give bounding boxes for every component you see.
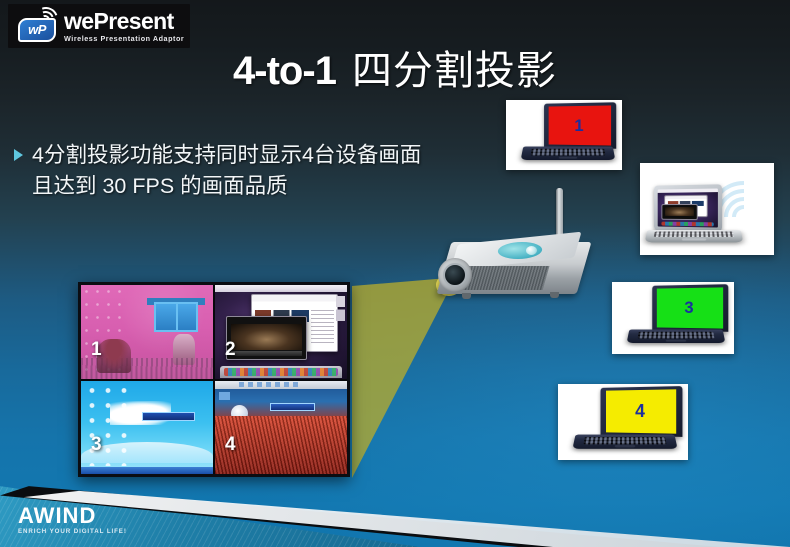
- device-card-4: 4: [558, 384, 688, 460]
- desktop-dialog-bar: [142, 412, 195, 420]
- projector-lens: [443, 263, 467, 287]
- projector-foot: [550, 292, 559, 298]
- laptop-trackpad: [559, 157, 578, 159]
- laptop-lid: 3: [652, 284, 728, 332]
- projector-foot: [462, 293, 471, 299]
- macbook-illustration: [640, 163, 774, 255]
- laptop-trackpad: [615, 445, 636, 447]
- laptop-screen: 1: [549, 106, 611, 146]
- projected-quadrant-3: 3: [81, 381, 213, 475]
- laptop-base: [521, 146, 616, 160]
- projector-grill: [459, 266, 550, 290]
- laptop-base: [627, 329, 726, 343]
- projected-quadrant-2: 2: [215, 285, 347, 379]
- projected-screen: 1 2: [78, 282, 350, 477]
- video-controls: [231, 351, 301, 356]
- laptop-lid: 1: [544, 102, 616, 148]
- projector-knob: [526, 246, 537, 255]
- laptop-keyboard: [637, 332, 715, 339]
- macos-menubar: [215, 285, 347, 292]
- laptop-illustration-4: 4: [558, 384, 688, 460]
- macbook-media-window: [661, 204, 698, 220]
- wall-window: [154, 302, 199, 332]
- macos-dock: [220, 366, 341, 377]
- macos-media-window: [226, 316, 308, 360]
- device-card-2: [640, 163, 774, 255]
- laptop-keyboard: [531, 149, 605, 156]
- laptop-illustration-1: 1: [506, 100, 622, 170]
- macbook-screen: [658, 188, 718, 227]
- awind-logo: AWIND ENRICH YOUR DIGITAL LIFE!: [18, 505, 127, 535]
- laptop-base: [572, 435, 677, 449]
- quadrant-number: 4: [225, 434, 236, 456]
- video-frame: [231, 324, 301, 351]
- quadrant-number: 3: [91, 434, 102, 456]
- bullet-triangle-icon: [14, 149, 23, 161]
- macbook-trackpad: [682, 238, 706, 241]
- awind-tagline: ENRICH YOUR DIGITAL LIFE!: [18, 529, 127, 535]
- quadrant-number: 1: [91, 339, 102, 361]
- device-number: 3: [684, 298, 693, 318]
- device-number: 1: [574, 115, 583, 135]
- browser-text-lines: [311, 310, 334, 344]
- macbook-video-frame: [665, 207, 694, 216]
- macbook-base: [645, 230, 744, 242]
- page-title-english: 4-to-1: [233, 49, 336, 93]
- desktop-icon: [219, 392, 230, 400]
- bullet-line-2: 且达到 30 FPS 的画面品质: [32, 171, 421, 202]
- laptop-screen: 3: [657, 288, 722, 329]
- projector-device: [432, 228, 592, 308]
- wp-badge-label: wP: [20, 23, 54, 36]
- desktop-side-icons: [336, 296, 345, 320]
- desktop-dialog-bar: [270, 403, 315, 411]
- bullet-line-1: 4分割投影功能支持同时显示4台设备画面: [32, 140, 421, 171]
- laptop-trackpad: [666, 340, 686, 342]
- laptop-illustration-3: 3: [612, 282, 734, 354]
- projected-quadrant-1: 1: [81, 285, 213, 379]
- projected-screen-grid: 1 2: [81, 285, 347, 474]
- quadrant-number: 2: [225, 339, 236, 361]
- laptop-lid: 4: [601, 386, 683, 437]
- page-title: 4-to-1四分割投影: [0, 38, 790, 96]
- laptop-screen: 4: [606, 390, 676, 434]
- macbook-keyboard: [653, 231, 734, 237]
- macbook-dock: [661, 221, 714, 226]
- macbook-lid: [654, 184, 722, 231]
- brand-name: wePresent: [64, 10, 184, 33]
- bullet-item: 4分割投影功能支持同时显示4台设备画面 且达到 30 FPS 的画面品质: [14, 140, 494, 201]
- device-card-1: 1: [506, 100, 622, 170]
- laptop-keyboard: [584, 437, 667, 444]
- projected-quadrant-4: 4: [215, 381, 347, 475]
- device-card-3: 3: [612, 282, 734, 354]
- slide-root: wP wePresent Wireless Presentation Adapt…: [0, 0, 790, 547]
- device-number: 4: [635, 401, 645, 422]
- awind-company-name: AWIND: [18, 505, 127, 527]
- desktop-topbar: [215, 381, 347, 389]
- page-title-chinese: 四分割投影: [352, 49, 557, 93]
- footer-band: AWIND ENRICH YOUR DIGITAL LIFE!: [0, 469, 790, 547]
- bullet-text: 4分割投影功能支持同时显示4台设备画面 且达到 30 FPS 的画面品质: [32, 140, 421, 201]
